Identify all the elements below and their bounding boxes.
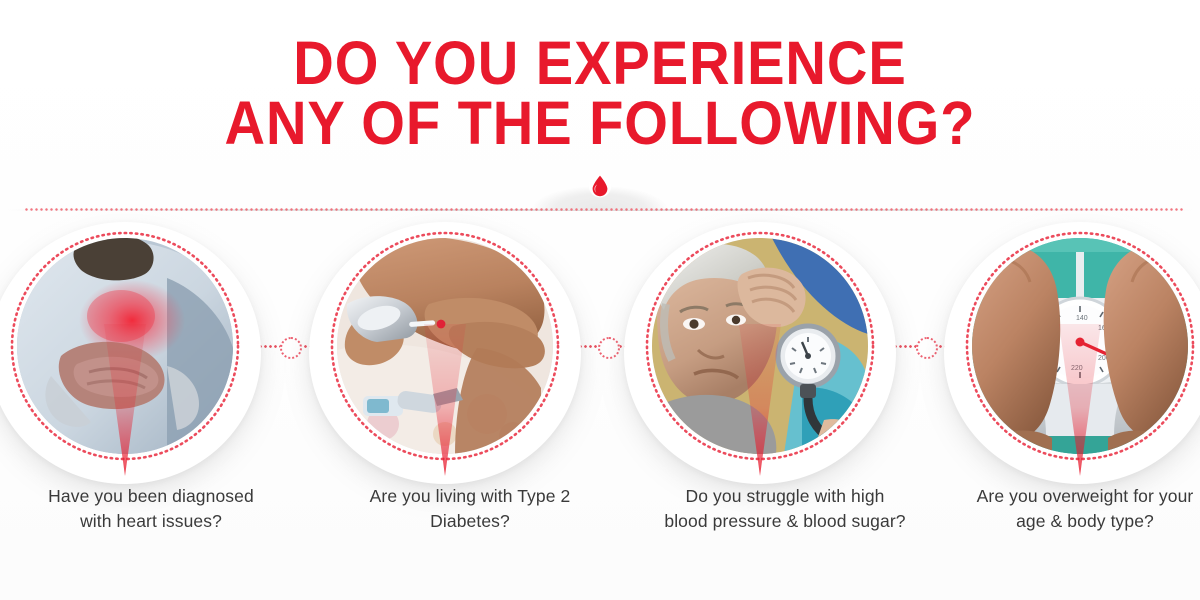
caption-line-2: Diabetes?: [320, 509, 620, 534]
captions-row: Have you been diagnosed with heart issue…: [0, 484, 1200, 554]
dotted-ring-icon: [642, 228, 878, 464]
symptom-item-type-2-diabetes[interactable]: [327, 228, 563, 478]
connector-node-icon: [598, 337, 620, 359]
page-title: DO YOU EXPERIENCE ANY OF THE FOLLOWING?: [0, 34, 1200, 154]
caption-heart-issues: Have you been diagnosed with heart issue…: [0, 484, 302, 534]
blood-drop-icon: [589, 173, 611, 200]
caption-type-2-diabetes: Are you living with Type 2 Diabetes?: [320, 484, 620, 534]
caption-line-1: Are you overweight for your: [952, 484, 1200, 509]
infographic-banner: DO YOU EXPERIENCE ANY OF THE FOLLOWING?: [0, 0, 1200, 600]
connector-node-icon: [280, 337, 302, 359]
symptom-item-blood-pressure-sugar[interactable]: [642, 228, 878, 478]
caption-line-2: blood pressure & blood sugar?: [630, 509, 940, 534]
divider: [0, 168, 1200, 220]
caption-overweight: Are you overweight for your age & body t…: [952, 484, 1200, 534]
caption-line-1: Have you been diagnosed: [0, 484, 302, 509]
symptom-item-heart-issues[interactable]: [7, 228, 243, 478]
symptom-circles-row: 140 160 200 220 40 80: [0, 228, 1200, 478]
dotted-ring-icon: [962, 228, 1198, 464]
symptom-item-overweight[interactable]: 140 160 200 220 40 80: [962, 228, 1198, 478]
caption-line-1: Are you living with Type 2: [320, 484, 620, 509]
caption-line-2: with heart issues?: [0, 509, 302, 534]
divider-dotted-line: [24, 208, 1184, 211]
headline-line-1: DO YOU EXPERIENCE: [48, 34, 1152, 94]
dotted-ring-icon: [327, 228, 563, 464]
caption-line-2: age & body type?: [952, 509, 1200, 534]
dotted-ring-icon: [7, 228, 243, 464]
caption-line-1: Do you struggle with high: [630, 484, 940, 509]
headline-line-2: ANY OF THE FOLLOWING?: [48, 94, 1152, 154]
connector-node-icon: [916, 337, 938, 359]
caption-blood-pressure-sugar: Do you struggle with high blood pressure…: [630, 484, 940, 534]
